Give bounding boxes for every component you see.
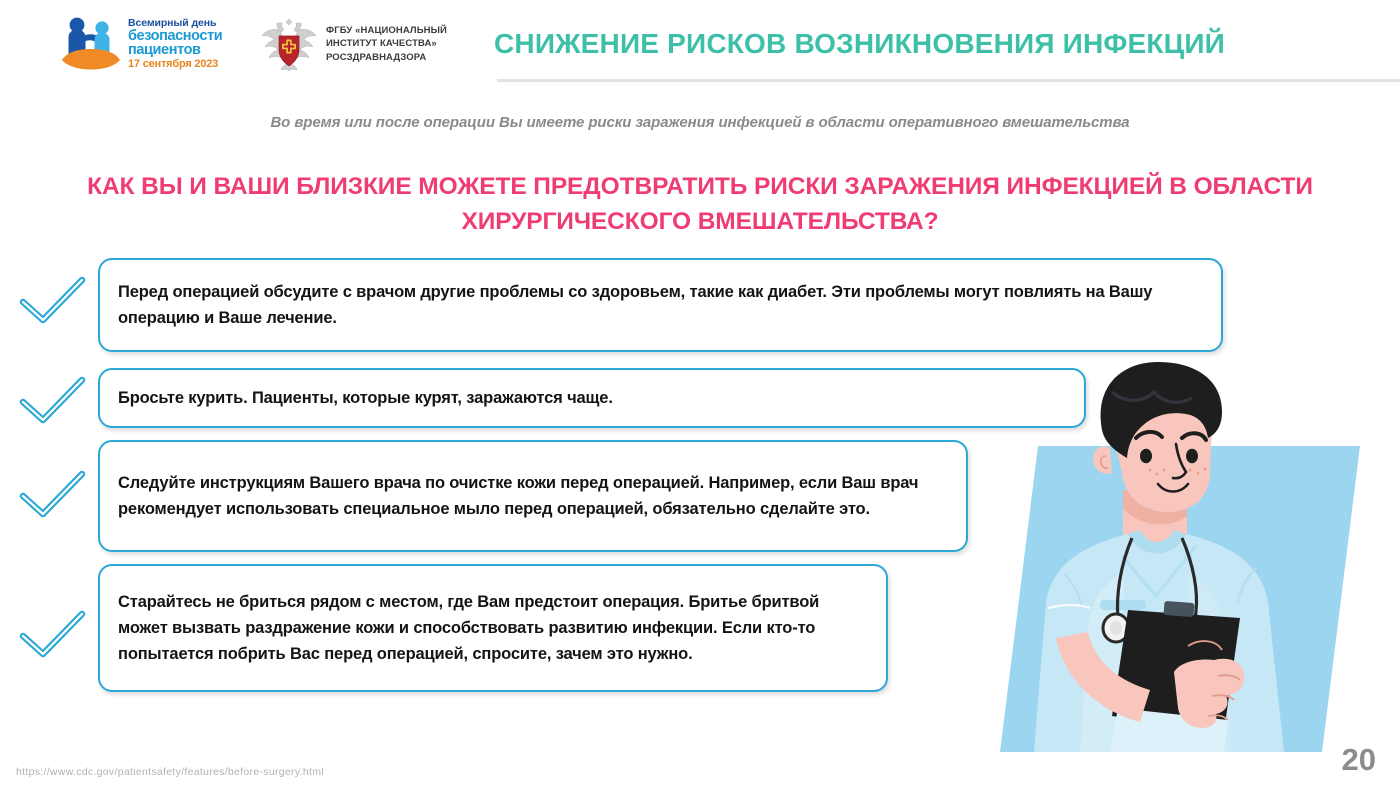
slide: Всемирный день безопасности пациентов 17… (0, 0, 1400, 788)
slide-subtitle: Во время или после операции Вы имеете ри… (0, 114, 1400, 131)
check-mark-icon (16, 372, 90, 432)
slide-header: Всемирный день безопасности пациентов 17… (0, 0, 1400, 90)
tip-text: Следуйте инструкциям Вашего врача по очи… (100, 470, 966, 522)
niq-line-3: РОСЗДРАВНАДЗОРА (326, 51, 466, 64)
world-patient-safety-day-logo-text: Всемирный день безопасности пациентов 17… (128, 18, 248, 70)
two-people-in-hand-icon (58, 16, 124, 74)
niq-line-2: ИНСТИТУТ КАЧЕСТВА» (326, 37, 466, 50)
double-headed-eagle-emblem-icon (258, 14, 320, 76)
tip-box: Перед операцией обсудите с врачом другие… (98, 258, 1223, 352)
page-number: 20 (1342, 742, 1376, 778)
tip-text: Перед операцией обсудите с врачом другие… (100, 279, 1221, 331)
source-url[interactable]: https://www.cdc.gov/patientsafety/featur… (16, 766, 324, 778)
check-mark-icon (16, 606, 90, 666)
niq-line-1: ФГБУ «НАЦИОНАЛЬНЫЙ (326, 24, 466, 37)
check-mark-icon (16, 272, 90, 332)
national-institute-quality-logo-text: ФГБУ «НАЦИОНАЛЬНЫЙ ИНСТИТУТ КАЧЕСТВА» РО… (326, 24, 466, 64)
wsd-line-2: безопасности (128, 29, 248, 44)
tip-text: Бросьте курить. Пациенты, которые курят,… (100, 385, 629, 411)
section-heading: КАК ВЫ И ВАШИ БЛИЗКИЕ МОЖЕТЕ ПРЕДОТВРАТИ… (70, 170, 1330, 240)
header-divider (497, 79, 1400, 82)
page-title: СНИЖЕНИЕ РИСКОВ ВОЗНИКНОВЕНИЯ ИНФЕКЦИЙ (494, 28, 1374, 60)
tip-box: Старайтесь не бриться рядом с местом, гд… (98, 564, 888, 692)
tip-box: Бросьте курить. Пациенты, которые курят,… (98, 368, 1086, 428)
wsd-line-4: 17 сентября 2023 (128, 59, 248, 70)
wsd-line-3: пациентов (128, 43, 248, 58)
check-mark-icon (16, 466, 90, 526)
doctor-with-clipboard-illustration (960, 360, 1400, 772)
national-institute-quality-logo: ФГБУ «НАЦИОНАЛЬНЫЙ ИНСТИТУТ КАЧЕСТВА» РО… (258, 14, 458, 76)
tip-box: Следуйте инструкциям Вашего врача по очи… (98, 440, 968, 552)
tip-text: Старайтесь не бриться рядом с местом, гд… (100, 589, 886, 667)
world-patient-safety-day-logo: Всемирный день безопасности пациентов 17… (58, 14, 248, 76)
